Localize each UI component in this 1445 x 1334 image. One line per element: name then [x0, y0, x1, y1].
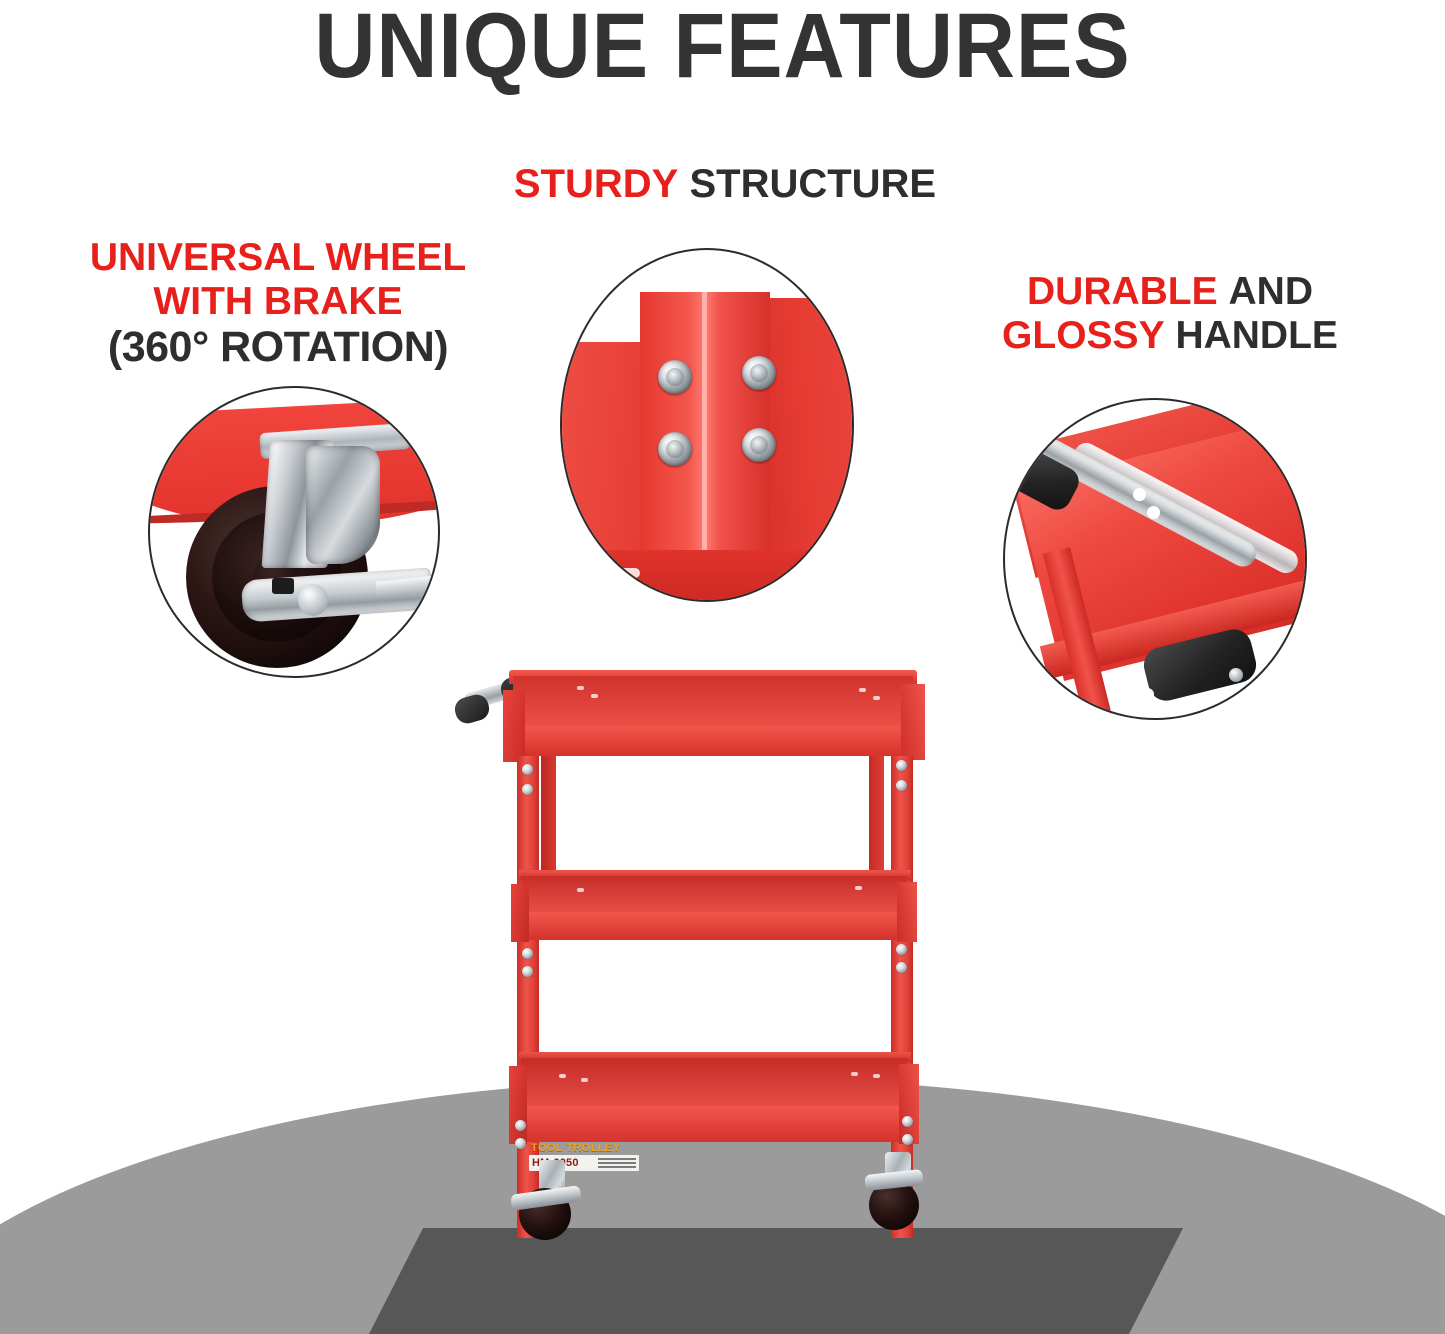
rivet: [902, 1116, 913, 1127]
infographic-page: UNIQUE FEATURES UNIVERSAL WHEEL WITH BRA…: [0, 0, 1445, 1334]
shelf-slot-hole: [610, 568, 640, 578]
caption-word-sturdy: STURDY: [514, 162, 678, 206]
caption-line-2: WITH BRAKE: [18, 280, 538, 324]
caption-word-glossy: GLOSSY: [1002, 314, 1165, 357]
rivet: [896, 944, 907, 955]
sticker-barcode-icon: [598, 1158, 636, 1168]
middle-shelf-left-side: [511, 884, 529, 942]
caster-fork-right: [306, 446, 380, 564]
page-title: UNIQUE FEATURES: [58, 0, 1387, 98]
hex-bolt-icon: [658, 360, 692, 394]
shelf-hole: [1133, 488, 1146, 501]
shelf-hole: [577, 888, 584, 892]
feature-caption-durable-handle: DURABLE AND GLOSSY HANDLE: [940, 270, 1400, 357]
rivet: [522, 784, 533, 795]
caption-line-3: (360° ROTATION): [18, 323, 538, 371]
caster-brake-slot: [272, 578, 294, 594]
rivet: [896, 760, 907, 771]
middle-shelf-front-panel: [519, 912, 909, 940]
rivet: [902, 1134, 913, 1145]
shelf-hole: [851, 1072, 858, 1076]
hex-bolt-icon: [658, 432, 692, 466]
hex-bolt-icon: [742, 356, 776, 390]
shelf-hole: [873, 696, 880, 700]
shelf-hole: [1147, 506, 1160, 519]
shelf-hole: [577, 686, 584, 690]
shelf-hole: [855, 886, 862, 890]
shelf-hole: [559, 1074, 566, 1078]
rivet: [522, 948, 533, 959]
shelf-hole: [581, 1078, 588, 1082]
shelf-floor-panel: [560, 550, 854, 602]
caption-word-and: AND: [1229, 270, 1314, 313]
bottom-shelf-right-side: [899, 1064, 919, 1144]
shelf-hole: [859, 688, 866, 692]
shelf-hole: [591, 694, 598, 698]
caption-line-1: UNIVERSAL WHEEL: [18, 236, 538, 280]
bottom-shelf-left-side: [509, 1066, 527, 1144]
middle-shelf-right-side: [897, 882, 917, 942]
caption-word-handle: HANDLE: [1175, 314, 1338, 357]
feature-caption-sturdy-structure: STURDY STRUCTURE: [425, 162, 1025, 207]
shelf-hole: [873, 1074, 880, 1078]
product-name-label: TOOL TROLLEY: [531, 1142, 629, 1154]
bottom-shelf-interior: [521, 1058, 907, 1112]
shelf-slot-hole: [798, 562, 828, 572]
shelf-hole: [1141, 688, 1154, 701]
rivet: [522, 764, 533, 775]
top-shelf-left-side: [503, 690, 525, 762]
caption-word-durable: DURABLE: [1027, 270, 1218, 313]
detail-circle-universal-wheel: [148, 386, 440, 678]
detail-circle-sturdy-structure: [560, 248, 854, 602]
caster-brake-right: [864, 1169, 923, 1191]
detail-circle-glossy-handle: [1003, 398, 1307, 720]
rivet: [896, 962, 907, 973]
caption-word-structure: STRUCTURE: [689, 162, 936, 206]
caster-brake-knob: [298, 584, 328, 616]
product-tool-trolley: TOOL TROLLEY HM-6050: [455, 660, 975, 1260]
corner-post-highlight: [702, 292, 707, 592]
top-shelf-right-side: [901, 684, 925, 760]
rivet: [896, 780, 907, 791]
bottom-shelf-front-panel: [517, 1106, 913, 1142]
feature-caption-universal-wheel: UNIVERSAL WHEEL WITH BRAKE (360° ROTATIO…: [18, 236, 538, 372]
top-shelf-front-panel: [511, 726, 915, 756]
hex-bolt-icon: [742, 428, 776, 462]
rivet: [522, 966, 533, 977]
rivet: [515, 1120, 526, 1131]
handle-rivet: [1229, 668, 1243, 682]
rivet: [515, 1138, 526, 1149]
